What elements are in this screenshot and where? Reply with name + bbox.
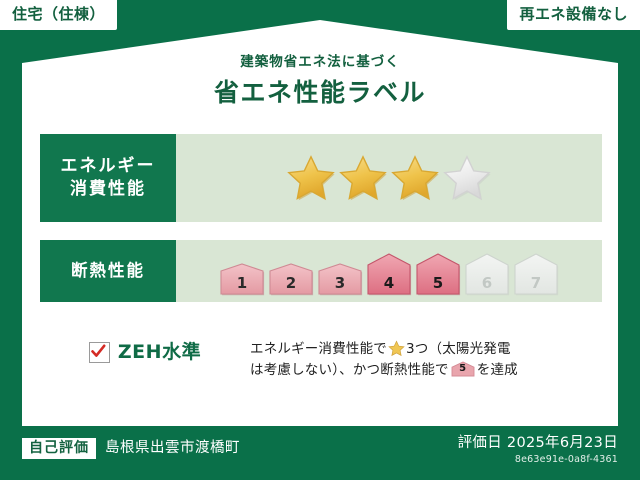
star-filled-icon — [391, 154, 439, 202]
zeh-criteria-row: ZEH水準 エネルギー消費性能で3つ（太陽光発電は考慮しない）、かつ断熱性能で5… — [40, 338, 602, 381]
insulation-grade-value: 7 — [513, 276, 559, 291]
inline-grade-badge: 5 — [451, 361, 475, 377]
energy-performance-label: エネルギー 消費性能 — [40, 134, 176, 222]
zeh-desc-part4: を達成 — [477, 362, 518, 378]
insulation-grade-value: 3 — [317, 276, 363, 291]
zeh-desc-part3: は考慮しない）、かつ断熱性能で — [250, 362, 449, 378]
insulation-grade-value: 1 — [219, 276, 265, 291]
inline-grade-value: 5 — [451, 364, 475, 374]
insulation-grade-scale: 1234567 — [176, 240, 602, 302]
insulation-grade-5: 5 — [415, 252, 461, 296]
footer-right: 評価日 2025年6月23日 8e63e91e-0a8f-4361 — [458, 435, 618, 465]
star-rating — [176, 134, 602, 222]
zeh-mark: ZEH水準 — [40, 338, 250, 363]
star-icon — [388, 340, 405, 357]
footer-left: 自己評価 島根県出雲市渡橋町 — [22, 438, 240, 459]
zeh-description: エネルギー消費性能で3つ（太陽光発電は考慮しない）、かつ断熱性能で5を達成 — [250, 338, 602, 381]
zeh-desc-part1: エネルギー消費性能で — [250, 341, 387, 357]
insulation-grade-value: 5 — [415, 276, 461, 291]
insulation-performance-label: 断熱性能 — [40, 240, 176, 302]
insulation-performance-row: 断熱性能 1234567 — [40, 240, 602, 302]
check-icon — [91, 344, 106, 359]
energy-performance-label: 住宅（住棟） 再エネ設備なし 建築物省エネ法に基づく 省エネ性能ラベル エネルギ… — [0, 0, 640, 480]
insulation-grade-6: 6 — [464, 252, 510, 296]
label-id: 8e63e91e-0a8f-4361 — [458, 455, 618, 465]
insulation-grade-value: 6 — [464, 276, 510, 291]
page-title: 省エネ性能ラベル — [0, 80, 640, 105]
building-type-tag: 住宅（住棟） — [0, 0, 117, 30]
insulation-grade-7: 7 — [513, 252, 559, 296]
evaluation-type-badge: 自己評価 — [22, 438, 96, 459]
insulation-grade-4: 4 — [366, 252, 412, 296]
title-subtitle: 建築物省エネ法に基づく — [0, 56, 640, 70]
insulation-grade-2: 2 — [268, 262, 314, 296]
title-block: 建築物省エネ法に基づく 省エネ性能ラベル — [0, 56, 640, 105]
evaluation-date: 評価日 2025年6月23日 — [458, 435, 618, 452]
zeh-checkbox — [89, 342, 110, 363]
energy-label-line1: エネルギー — [61, 155, 156, 178]
energy-performance-row: エネルギー 消費性能 — [40, 134, 602, 222]
renewable-energy-tag: 再エネ設備なし — [507, 0, 640, 30]
star-empty-icon — [443, 154, 491, 202]
zeh-label: ZEH水準 — [118, 343, 201, 362]
evaluation-location: 島根県出雲市渡橋町 — [105, 441, 240, 456]
insulation-grade-value: 2 — [268, 276, 314, 291]
star-filled-icon — [339, 154, 387, 202]
insulation-grade-value: 4 — [366, 276, 412, 291]
insulation-grade-3: 3 — [317, 262, 363, 296]
star-filled-icon — [287, 154, 335, 202]
insulation-grade-1: 1 — [219, 262, 265, 296]
zeh-desc-part2: 3つ（太陽光発電 — [406, 341, 511, 357]
insulation-label-text: 断熱性能 — [71, 260, 145, 282]
footer: 自己評価 島根県出雲市渡橋町 評価日 2025年6月23日 8e63e91e-0… — [0, 426, 640, 480]
energy-label-line2: 消費性能 — [70, 178, 146, 201]
